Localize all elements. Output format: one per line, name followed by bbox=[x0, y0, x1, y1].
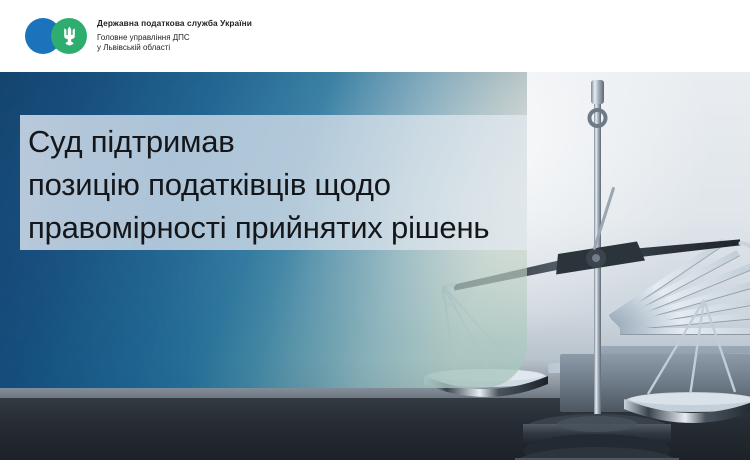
agency-logo[interactable] bbox=[25, 18, 87, 54]
headline-line-2: позицію податківців щодо bbox=[28, 163, 527, 206]
lower-book-stack bbox=[560, 354, 750, 412]
headline-line-1: Суд підтримав bbox=[28, 120, 527, 163]
agency-subtitle-line2: у Львівській області bbox=[97, 43, 252, 53]
site-header: Державна податкова служба України Головн… bbox=[0, 0, 750, 72]
agency-title: Державна податкова служба України bbox=[97, 18, 252, 29]
agency-subtitle-line1: Головне управління ДПС bbox=[97, 33, 252, 43]
headline-line-3: правомірності прийнятих рішень bbox=[28, 206, 527, 249]
ukraine-trident-icon bbox=[51, 18, 87, 54]
news-banner: Суд підтримав позицію податківців щодо п… bbox=[0, 0, 750, 460]
agency-name-block: Державна податкова служба України Головн… bbox=[97, 18, 252, 53]
headline-container: Суд підтримав позицію податківців щодо п… bbox=[20, 115, 527, 250]
